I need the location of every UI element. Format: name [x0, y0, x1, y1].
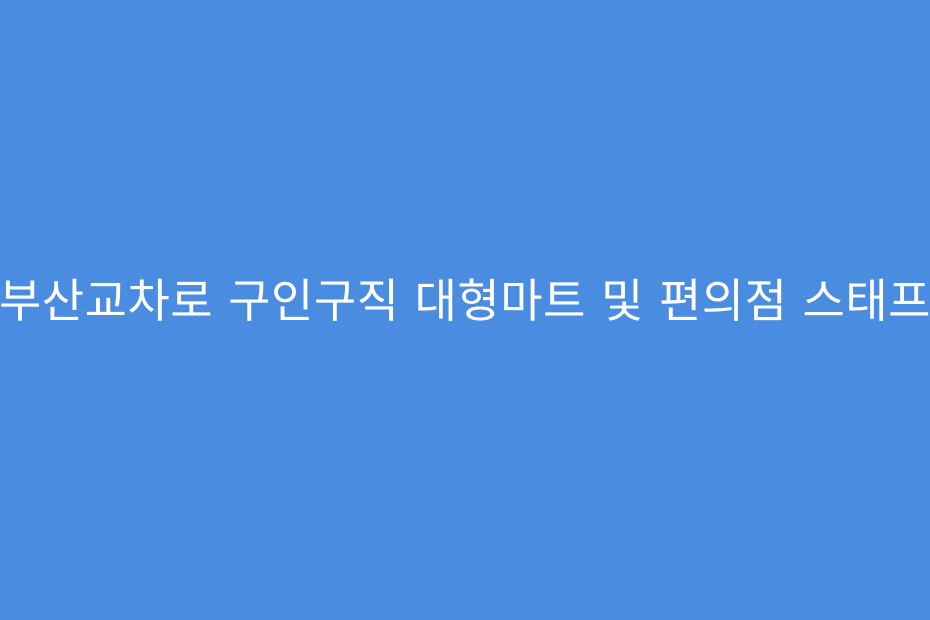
headline-row: 부산교차로 구인구직 대형마트 및 편의점 스태프 [0, 278, 930, 324]
banner-headline: 부산교차로 구인구직 대형마트 및 편의점 스태프 [0, 278, 930, 324]
banner-canvas: 부산교차로 구인구직 대형마트 및 편의점 스태프 [0, 0, 930, 620]
